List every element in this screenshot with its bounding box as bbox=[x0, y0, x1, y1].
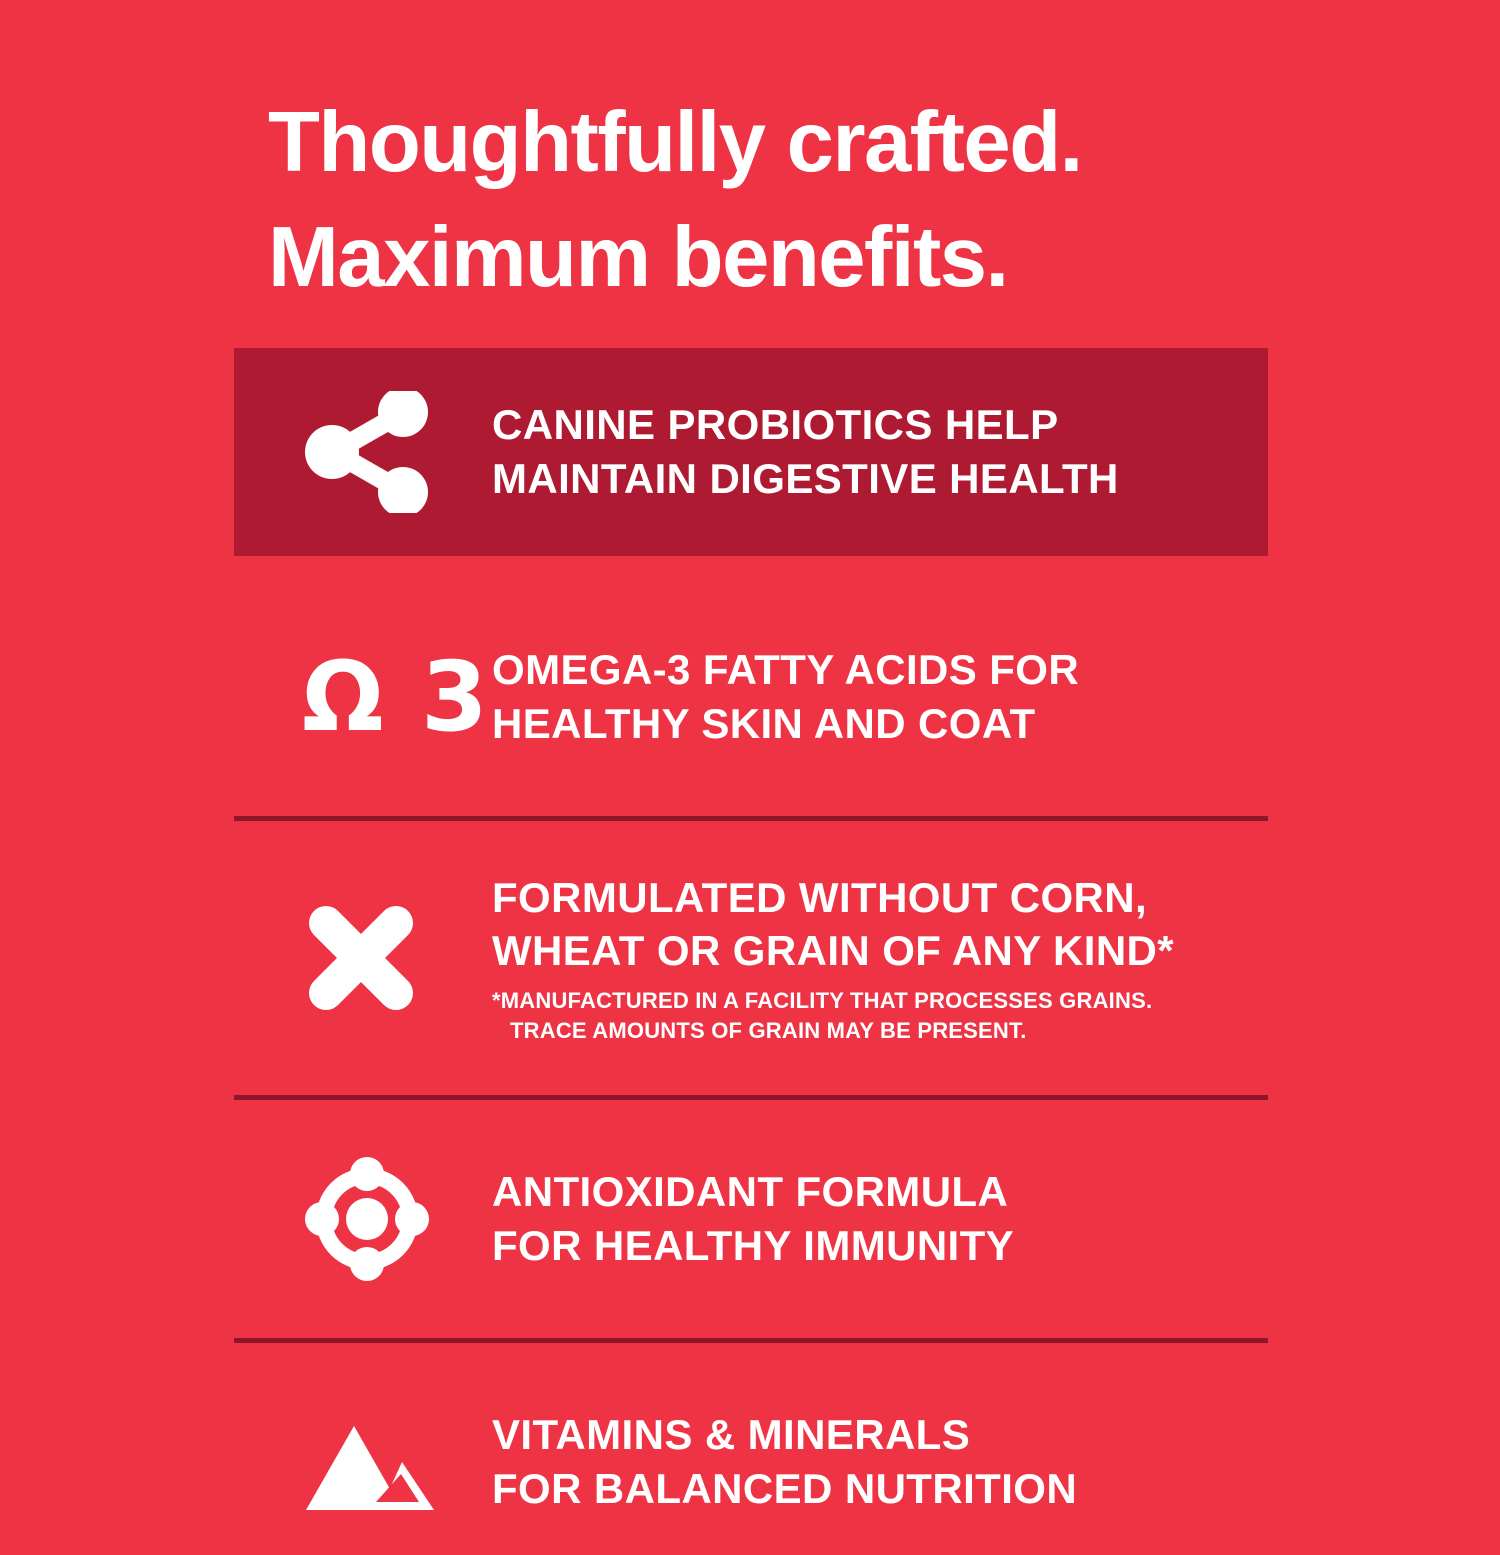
benefit-title-line-2: WHEAT OR GRAIN OF ANY KIND* bbox=[492, 924, 1268, 978]
benefit-text-antioxidant: ANTIOXIDANT FORMULA FOR HEALTHY IMMUNITY bbox=[492, 1165, 1268, 1273]
benefit-title-line-1: CANINE PROBIOTICS HELP bbox=[492, 398, 1268, 452]
benefit-title-line-1: OMEGA-3 FATTY ACIDS FOR bbox=[492, 643, 1268, 697]
benefit-footnote: *MANUFACTURED IN A FACILITY THAT PROCESS… bbox=[492, 986, 1268, 1045]
benefit-title-line-1: FORMULATED WITHOUT CORN, bbox=[492, 871, 1268, 925]
benefit-item-omega3: Ω 3 OMEGA-3 FATTY ACIDS FOR HEALTHY SKIN… bbox=[234, 604, 1268, 790]
benefit-title-line-2: HEALTHY SKIN AND COAT bbox=[492, 697, 1268, 751]
benefit-title-line-2: MAINTAIN DIGESTIVE HEALTH bbox=[492, 452, 1268, 506]
benefit-text-grain-free: FORMULATED WITHOUT CORN, WHEAT OR GRAIN … bbox=[492, 871, 1268, 1046]
omega-3-icon: Ω 3 bbox=[302, 649, 492, 745]
benefit-footnote-line-2: TRACE AMOUNTS OF GRAIN MAY BE PRESENT. bbox=[492, 1016, 1268, 1046]
spacer bbox=[234, 1100, 1268, 1126]
omega-3-icon-label: Ω 3 bbox=[302, 649, 490, 745]
share-network-icon bbox=[302, 391, 492, 513]
benefit-title: FORMULATED WITHOUT CORN, WHEAT OR GRAIN … bbox=[492, 871, 1268, 979]
benefit-title: CANINE PROBIOTICS HELP MAINTAIN DIGESTIV… bbox=[492, 398, 1268, 506]
benefit-item-antioxidant: ANTIOXIDANT FORMULA FOR HEALTHY IMMUNITY bbox=[234, 1126, 1268, 1312]
spacer bbox=[234, 1312, 1268, 1338]
benefit-title: OMEGA-3 FATTY ACIDS FOR HEALTHY SKIN AND… bbox=[492, 643, 1268, 751]
benefit-title: ANTIOXIDANT FORMULA FOR HEALTHY IMMUNITY bbox=[492, 1165, 1268, 1273]
benefit-text-omega3: OMEGA-3 FATTY ACIDS FOR HEALTHY SKIN AND… bbox=[492, 643, 1268, 751]
atom-molecule-icon bbox=[302, 1154, 492, 1284]
benefit-title-line-2: FOR BALANCED NUTRITION bbox=[492, 1462, 1268, 1516]
benefit-title-line-1: ANTIOXIDANT FORMULA bbox=[492, 1165, 1268, 1219]
spacer bbox=[234, 1343, 1268, 1369]
spacer bbox=[234, 821, 1268, 847]
page-title: Thoughtfully crafted. Maximum benefits. bbox=[268, 86, 1268, 316]
benefit-footnote-line-1: *MANUFACTURED IN A FACILITY THAT PROCESS… bbox=[492, 986, 1268, 1016]
mountains-icon bbox=[302, 1410, 492, 1514]
product-benefits-infographic: Thoughtfully crafted. Maximum benefits. bbox=[0, 0, 1500, 1500]
benefit-item-probiotics: CANINE PROBIOTICS HELP MAINTAIN DIGESTIV… bbox=[234, 348, 1268, 556]
benefit-text-probiotics: CANINE PROBIOTICS HELP MAINTAIN DIGESTIV… bbox=[492, 398, 1268, 506]
benefit-item-vitamins: VITAMINS & MINERALS FOR BALANCED NUTRITI… bbox=[234, 1369, 1268, 1555]
spacer bbox=[234, 1069, 1268, 1095]
headline-line-1: Thoughtfully crafted. bbox=[268, 86, 1268, 201]
headline-line-2: Maximum benefits. bbox=[268, 201, 1268, 316]
benefit-title-line-1: VITAMINS & MINERALS bbox=[492, 1408, 1268, 1462]
spacer bbox=[234, 556, 1268, 604]
benefit-title-line-2: FOR HEALTHY IMMUNITY bbox=[492, 1219, 1268, 1273]
spacer bbox=[234, 790, 1268, 816]
benefit-item-grain-free: FORMULATED WITHOUT CORN, WHEAT OR GRAIN … bbox=[234, 847, 1268, 1069]
benefits-list: CANINE PROBIOTICS HELP MAINTAIN DIGESTIV… bbox=[234, 348, 1268, 1555]
x-cross-icon bbox=[302, 899, 492, 1017]
